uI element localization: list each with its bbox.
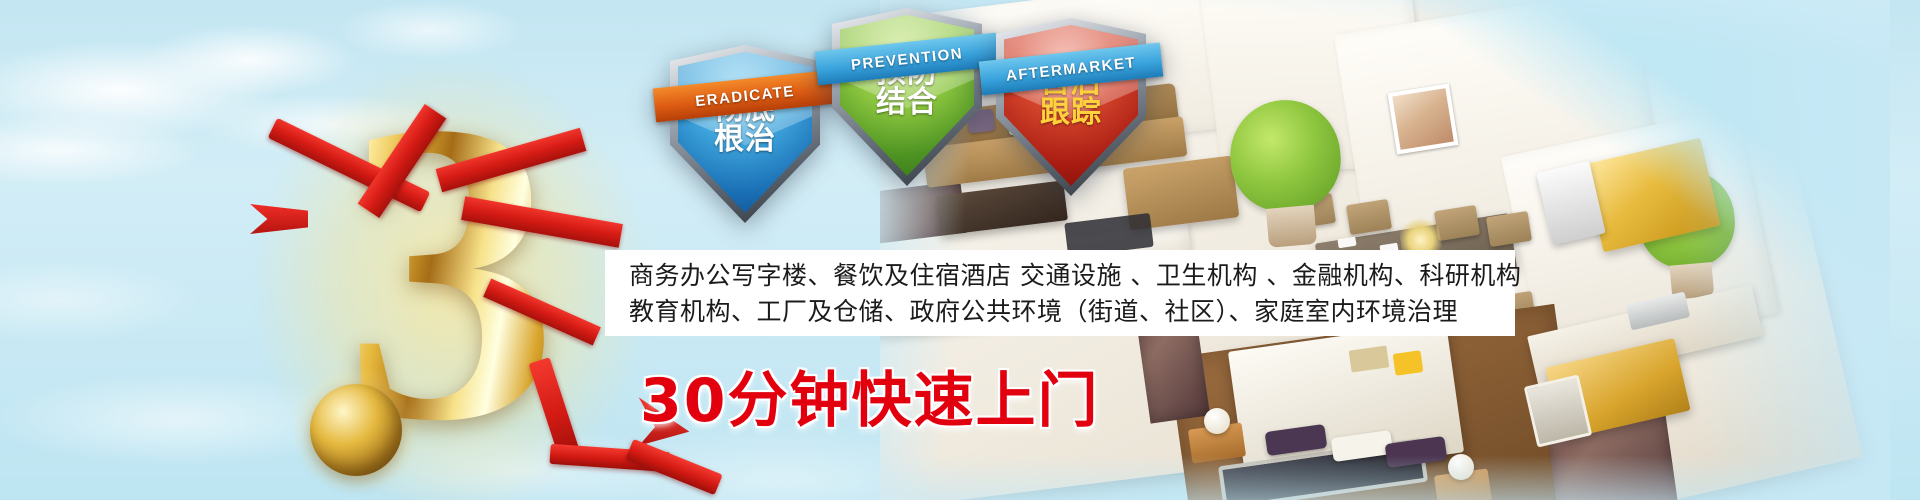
shield-chinese-line2: 结合 xyxy=(832,88,982,118)
service-scope-panel: 商务办公写字楼、餐饮及住宿酒店 交通设施 、卫生机构 、金融机构、科研机构 教育… xyxy=(605,250,1515,336)
service-scope-line-2: 教育机构、工厂及仓储、政府公共环境（街道、社区）、家庭室内环境治理 xyxy=(629,294,1515,330)
shield-chinese-line2: 根治 xyxy=(670,125,820,155)
table-lamp xyxy=(1204,408,1230,434)
wall-artwork xyxy=(1388,84,1459,155)
gold-sphere xyxy=(310,384,402,476)
shield-badge-group: 彻底 根治 ERADICATE 预防 结合 PREVENTION xyxy=(640,0,1240,230)
table-lamp xyxy=(1448,454,1474,480)
shield-badge-eradicate: 彻底 根治 ERADICATE xyxy=(670,45,820,223)
shield-english-label: AFTERMARKET xyxy=(1005,54,1137,85)
plant-foliage xyxy=(1226,95,1345,215)
plant-pot xyxy=(1266,204,1318,247)
shield-badge-prevention: 预防 结合 PREVENTION xyxy=(832,8,982,186)
shield-english-label: PREVENTION xyxy=(850,45,964,74)
headline-text: 30分钟快速上门 xyxy=(640,352,1100,439)
promo-banner: 3 彻底 根治 ERADICATE xyxy=(0,0,1920,500)
service-scope-line-1: 商务办公写字楼、餐饮及住宿酒店 交通设施 、卫生机构 、金融机构、科研机构 xyxy=(629,258,1515,294)
potted-plant xyxy=(1226,95,1349,254)
shield-english-label: ERADICATE xyxy=(694,82,795,109)
bed-accent-cushion xyxy=(1393,350,1424,376)
shield-chinese-line2: 跟踪 xyxy=(996,98,1146,128)
shield-badge-aftermarket: 售后 跟踪 AFTERMARKET xyxy=(996,18,1146,196)
